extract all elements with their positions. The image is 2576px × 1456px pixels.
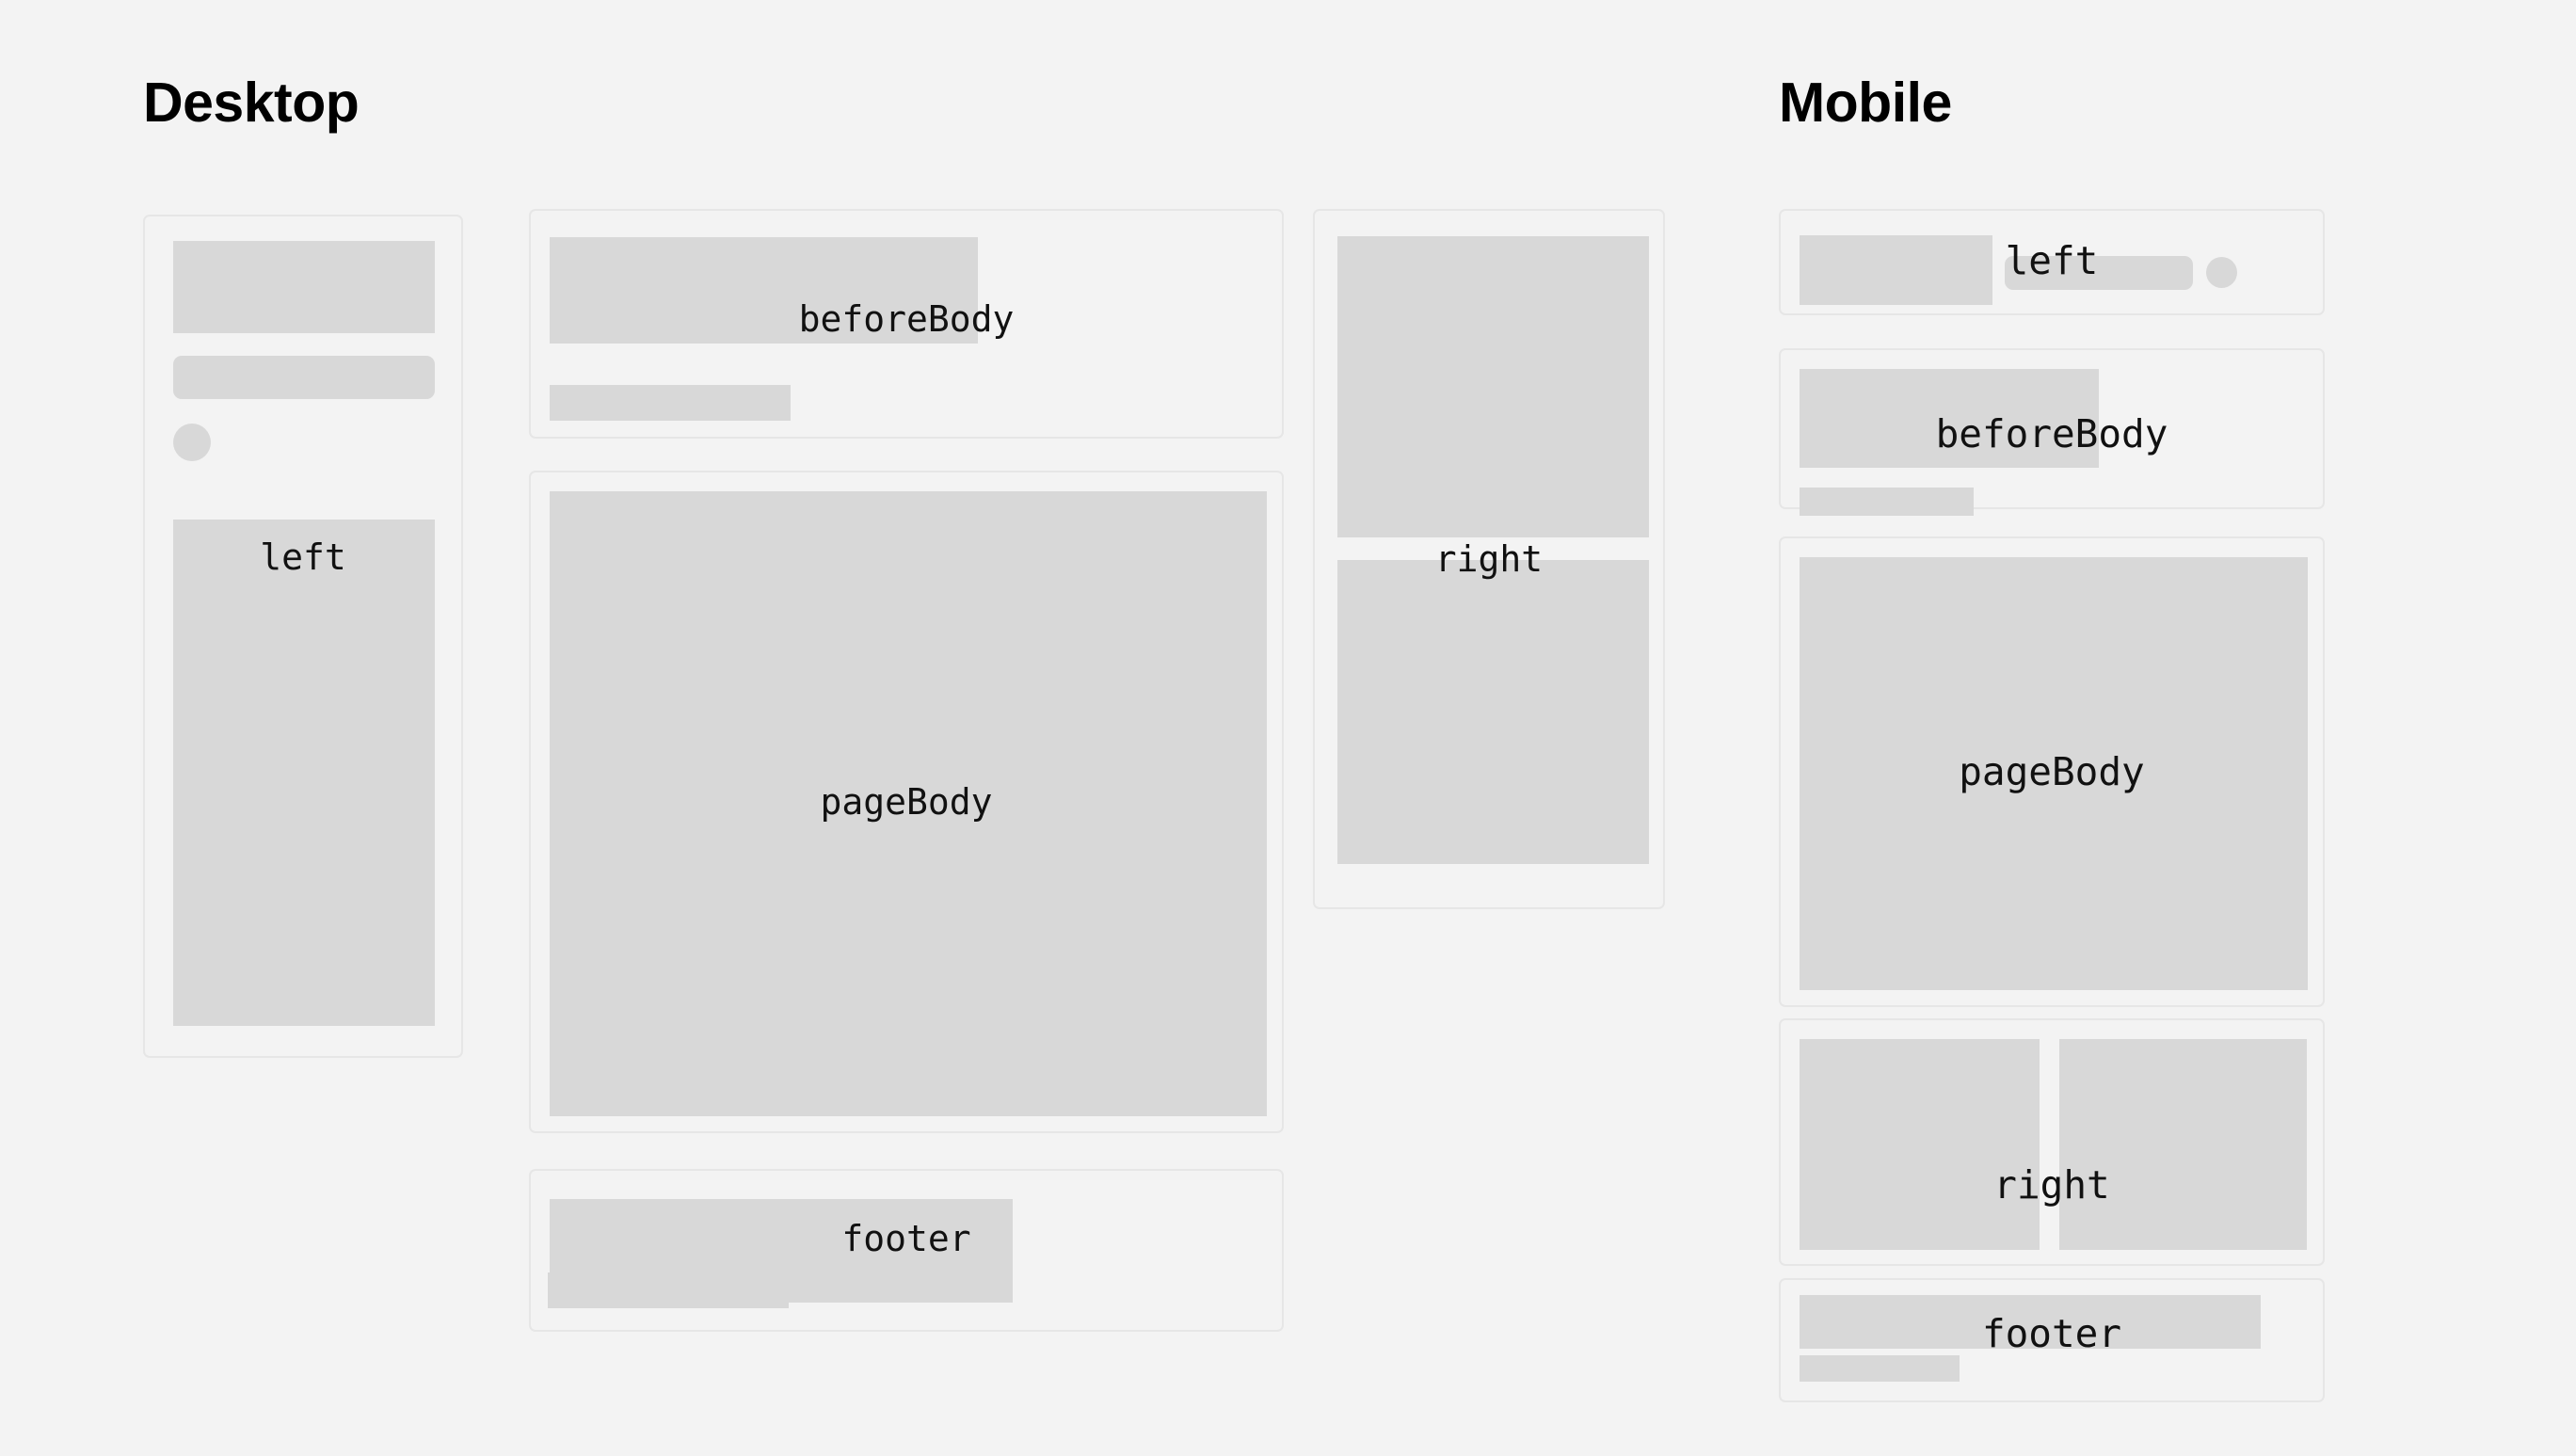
- mobile-left-panel[interactable]: [1779, 209, 2325, 315]
- mobile-left-header-block: [1800, 235, 1992, 305]
- desktop-page-body-content-block: [550, 491, 1267, 1116]
- mobile-right-widget-block-right: [2059, 1039, 2307, 1250]
- mobile-footer-banner-block: [1800, 1295, 2261, 1349]
- desktop-right-widget-block-bottom: [1337, 560, 1649, 864]
- mobile-right-panel[interactable]: [1779, 1018, 2325, 1266]
- section-title-mobile: Mobile: [1779, 75, 1952, 131]
- desktop-left-header-block: [173, 241, 435, 333]
- desktop-before-body-panel[interactable]: [529, 209, 1284, 439]
- desktop-left-nav-block: [173, 520, 435, 1026]
- desktop-left-panel[interactable]: [143, 215, 463, 1058]
- wireframe-canvas: Desktop left beforeBody pageBody right f…: [0, 0, 2576, 1456]
- mobile-left-avatar-dot-icon[interactable]: [2206, 257, 2237, 288]
- desktop-page-body-panel[interactable]: [529, 471, 1284, 1133]
- desktop-before-body-caption-block: [550, 385, 791, 421]
- desktop-left-avatar-dot-icon[interactable]: [173, 424, 211, 461]
- desktop-right-panel[interactable]: [1313, 209, 1665, 909]
- section-title-desktop: Desktop: [143, 75, 359, 131]
- mobile-left-search-block[interactable]: [2005, 256, 2193, 290]
- desktop-before-body-banner-block: [550, 237, 978, 344]
- desktop-left-search-block[interactable]: [173, 356, 435, 399]
- mobile-before-body-caption-block: [1800, 488, 1974, 516]
- mobile-before-body-banner-block: [1800, 369, 2099, 468]
- mobile-page-body-panel[interactable]: [1779, 536, 2325, 1007]
- mobile-footer-caption-block: [1800, 1355, 1960, 1382]
- mobile-footer-panel[interactable]: [1779, 1278, 2325, 1402]
- desktop-right-widget-block-top: [1337, 236, 1649, 537]
- mobile-before-body-panel[interactable]: [1779, 348, 2325, 509]
- desktop-footer-caption-block: [548, 1272, 789, 1308]
- mobile-page-body-content-block: [1800, 557, 2308, 990]
- mobile-right-widget-block-left: [1800, 1039, 2040, 1250]
